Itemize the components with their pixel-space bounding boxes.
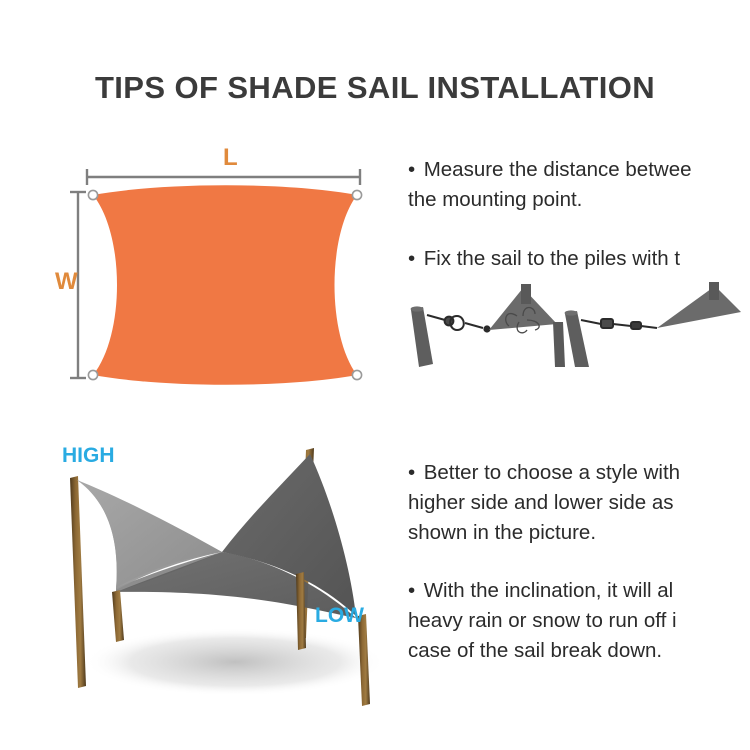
tip-line: • Fix the sail to the piles with t	[408, 244, 750, 274]
bullet-icon: •	[408, 155, 418, 185]
ground-shadow	[85, 628, 385, 696]
tip-line: shown in the picture.	[408, 518, 750, 548]
tip-line: heavy rain or snow to run off i	[408, 606, 750, 636]
dimension-length-label: L	[223, 144, 238, 172]
mounting-post-icon	[565, 311, 589, 367]
tip-line: • With the inclination, it will al	[408, 576, 750, 606]
high-corner-label: HIGH	[62, 444, 115, 468]
tip-text: With the inclination, it will al	[424, 579, 674, 602]
hypar-sail-graphic	[30, 440, 420, 710]
tip-item: • Better to choose a style with higher s…	[408, 458, 750, 548]
hypar-sail-diagram: HIGH LOW	[30, 440, 420, 710]
rectangular-sail-diagram: L W	[55, 140, 405, 400]
sail-corner-right	[657, 286, 741, 328]
tips-upper-column: • Measure the distance betwee the mounti…	[408, 155, 750, 275]
tip-item: • With the inclination, it will al heavy…	[408, 576, 750, 658]
tips-lower-column: • Better to choose a style with higher s…	[408, 458, 750, 658]
low-corner-label: LOW	[315, 604, 364, 628]
orange-sail-body	[93, 185, 357, 385]
tip-item: • Fix the sail to the piles with t fixxi…	[408, 244, 750, 275]
hardware-assembly-left	[411, 284, 565, 367]
infographic-page: TIPS OF SHADE SAIL INSTALLATION L W	[0, 0, 750, 750]
tip-item: • Measure the distance betwee the mounti…	[408, 155, 750, 215]
page-title: TIPS OF SHADE SAIL INSTALLATION	[0, 70, 750, 106]
snap-hook-icon	[581, 319, 657, 329]
bullet-icon: •	[408, 458, 418, 488]
rectangular-sail-graphic	[55, 140, 405, 400]
bullet-icon: •	[408, 576, 418, 606]
post-low-left-front	[112, 590, 124, 642]
turnbuckle-icon	[427, 315, 491, 333]
tip-line: fixxing hard ware.	[408, 274, 750, 275]
post-high-left	[70, 476, 86, 688]
tip-line: the mounting point.	[408, 185, 750, 215]
fixing-hardware-illustrations	[405, 282, 750, 367]
mounting-post-icon	[709, 282, 719, 300]
bullet-icon: •	[408, 244, 418, 274]
tip-line: higher side and lower side as	[408, 488, 750, 518]
mounting-post-icon	[521, 284, 531, 304]
tip-line: • Better to choose a style with	[408, 458, 750, 488]
tip-line: • Measure the distance betwee	[408, 155, 750, 185]
hardware-graphic	[405, 282, 750, 367]
tip-text: Better to choose a style with	[424, 461, 680, 484]
mounting-post-icon	[553, 322, 565, 367]
tip-line: case of the sail break down.	[408, 636, 750, 658]
tip-text: Measure the distance betwee	[424, 158, 692, 181]
tip-text: Fix the sail to the piles with t	[424, 247, 680, 270]
dimension-width-label: W	[55, 268, 78, 296]
hardware-assembly-right	[565, 282, 741, 367]
